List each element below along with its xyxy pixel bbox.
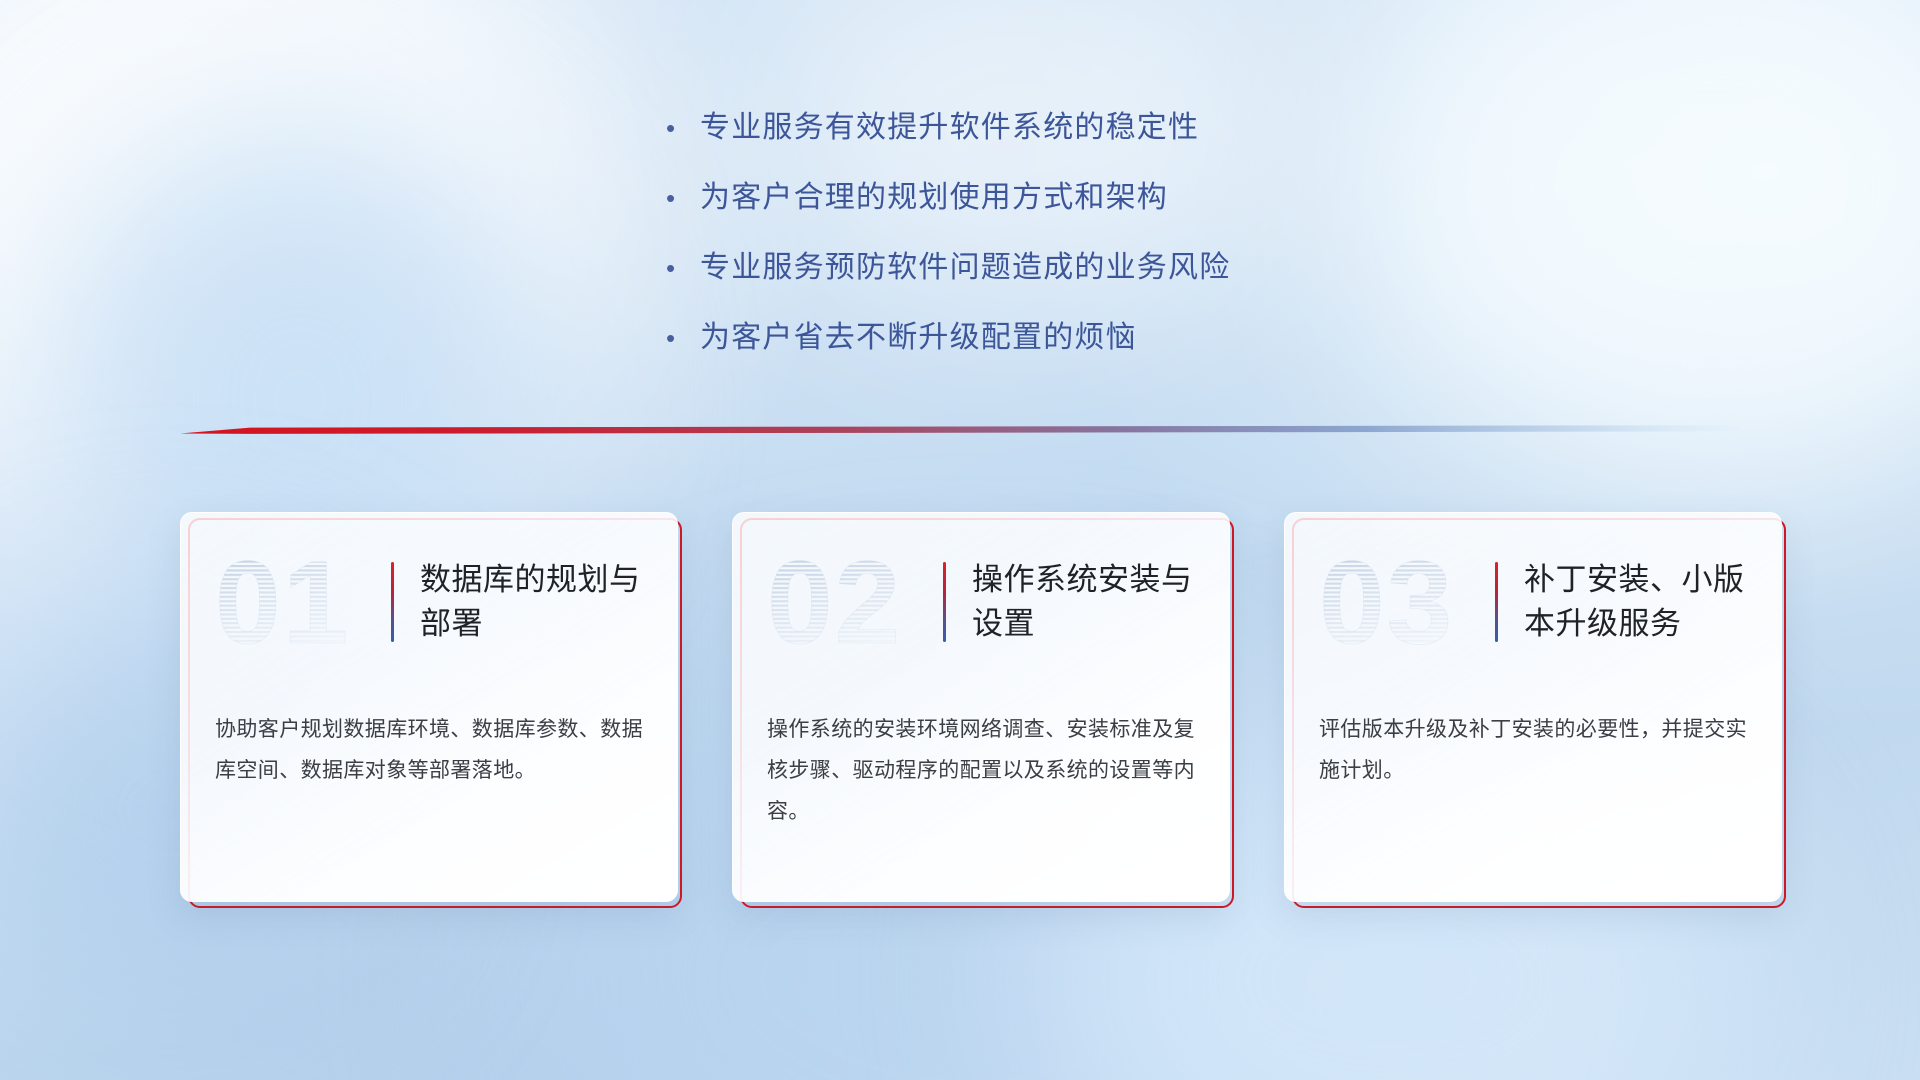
card-header: 01 01 数据库的规划与部署 — [181, 513, 677, 691]
bullet-dot-icon: • — [660, 108, 700, 148]
card-body: 03 03 补丁安装、小版本升级服务 评估版本升级及补丁安装的必要性，并提交实施… — [1284, 512, 1782, 902]
bullet-dot-icon: • — [660, 248, 700, 288]
bullet-dot-icon: • — [660, 178, 700, 218]
card-title: 操作系统安装与设置 — [972, 558, 1203, 646]
bullet-text: 专业服务预防软件问题造成的业务风险 — [700, 248, 1230, 288]
card-title-rule — [1495, 562, 1498, 642]
service-card[interactable]: 02 02 操作系统安装与设置 操作系统的安装环境网络调查、安装标准及复核步骤、… — [732, 512, 1230, 902]
background-blob — [1360, 0, 1920, 470]
bullet-text: 专业服务有效提升软件系统的稳定性 — [700, 108, 1199, 148]
card-title: 数据库的规划与部署 — [420, 558, 651, 646]
service-cards-row: 01 01 数据库的规划与部署 协助客户规划数据库环境、数据库参数、数据库空间、… — [180, 512, 1782, 902]
card-description: 评估版本升级及补丁安装的必要性，并提交实施计划。 — [1285, 691, 1781, 791]
card-description: 协助客户规划数据库环境、数据库参数、数据库空间、数据库对象等部署落地。 — [181, 691, 677, 791]
card-body: 01 01 数据库的规划与部署 协助客户规划数据库环境、数据库参数、数据库空间、… — [180, 512, 678, 902]
card-title-rule — [391, 562, 394, 642]
bullet-dot-icon: • — [660, 318, 700, 358]
service-card[interactable]: 01 01 数据库的规划与部署 协助客户规划数据库环境、数据库参数、数据库空间、… — [180, 512, 678, 902]
card-title: 补丁安装、小版本升级服务 — [1524, 558, 1755, 646]
card-number-03: 03 03 — [1317, 543, 1489, 661]
svg-text:03: 03 — [1319, 543, 1454, 661]
benefits-bullet-list: • 专业服务有效提升软件系统的稳定性 • 为客户合理的规划使用方式和架构 • 专… — [660, 108, 1420, 388]
card-number-01: 01 01 — [213, 543, 385, 661]
svg-text:02: 02 — [767, 543, 902, 661]
list-item: • 专业服务预防软件问题造成的业务风险 — [660, 248, 1420, 288]
list-item: • 为客户省去不断升级配置的烦恼 — [660, 318, 1420, 358]
list-item: • 为客户合理的规划使用方式和架构 — [660, 178, 1420, 218]
bullet-text: 为客户合理的规划使用方式和架构 — [700, 178, 1168, 218]
list-item: • 专业服务有效提升软件系统的稳定性 — [660, 108, 1420, 148]
bullet-text: 为客户省去不断升级配置的烦恼 — [700, 318, 1137, 358]
svg-text:01: 01 — [215, 543, 350, 661]
service-card[interactable]: 03 03 补丁安装、小版本升级服务 评估版本升级及补丁安装的必要性，并提交实施… — [1284, 512, 1782, 902]
card-number-02: 02 02 — [765, 543, 937, 661]
section-divider — [180, 422, 1740, 440]
card-header: 03 03 补丁安装、小版本升级服务 — [1285, 513, 1781, 691]
card-description: 操作系统的安装环境网络调查、安装标准及复核步骤、驱动程序的配置以及系统的设置等内… — [733, 691, 1229, 832]
card-title-rule — [943, 562, 946, 642]
slide-canvas: • 专业服务有效提升软件系统的稳定性 • 为客户合理的规划使用方式和架构 • 专… — [0, 0, 1920, 1080]
card-header: 02 02 操作系统安装与设置 — [733, 513, 1229, 691]
card-body: 02 02 操作系统安装与设置 操作系统的安装环境网络调查、安装标准及复核步骤、… — [732, 512, 1230, 902]
